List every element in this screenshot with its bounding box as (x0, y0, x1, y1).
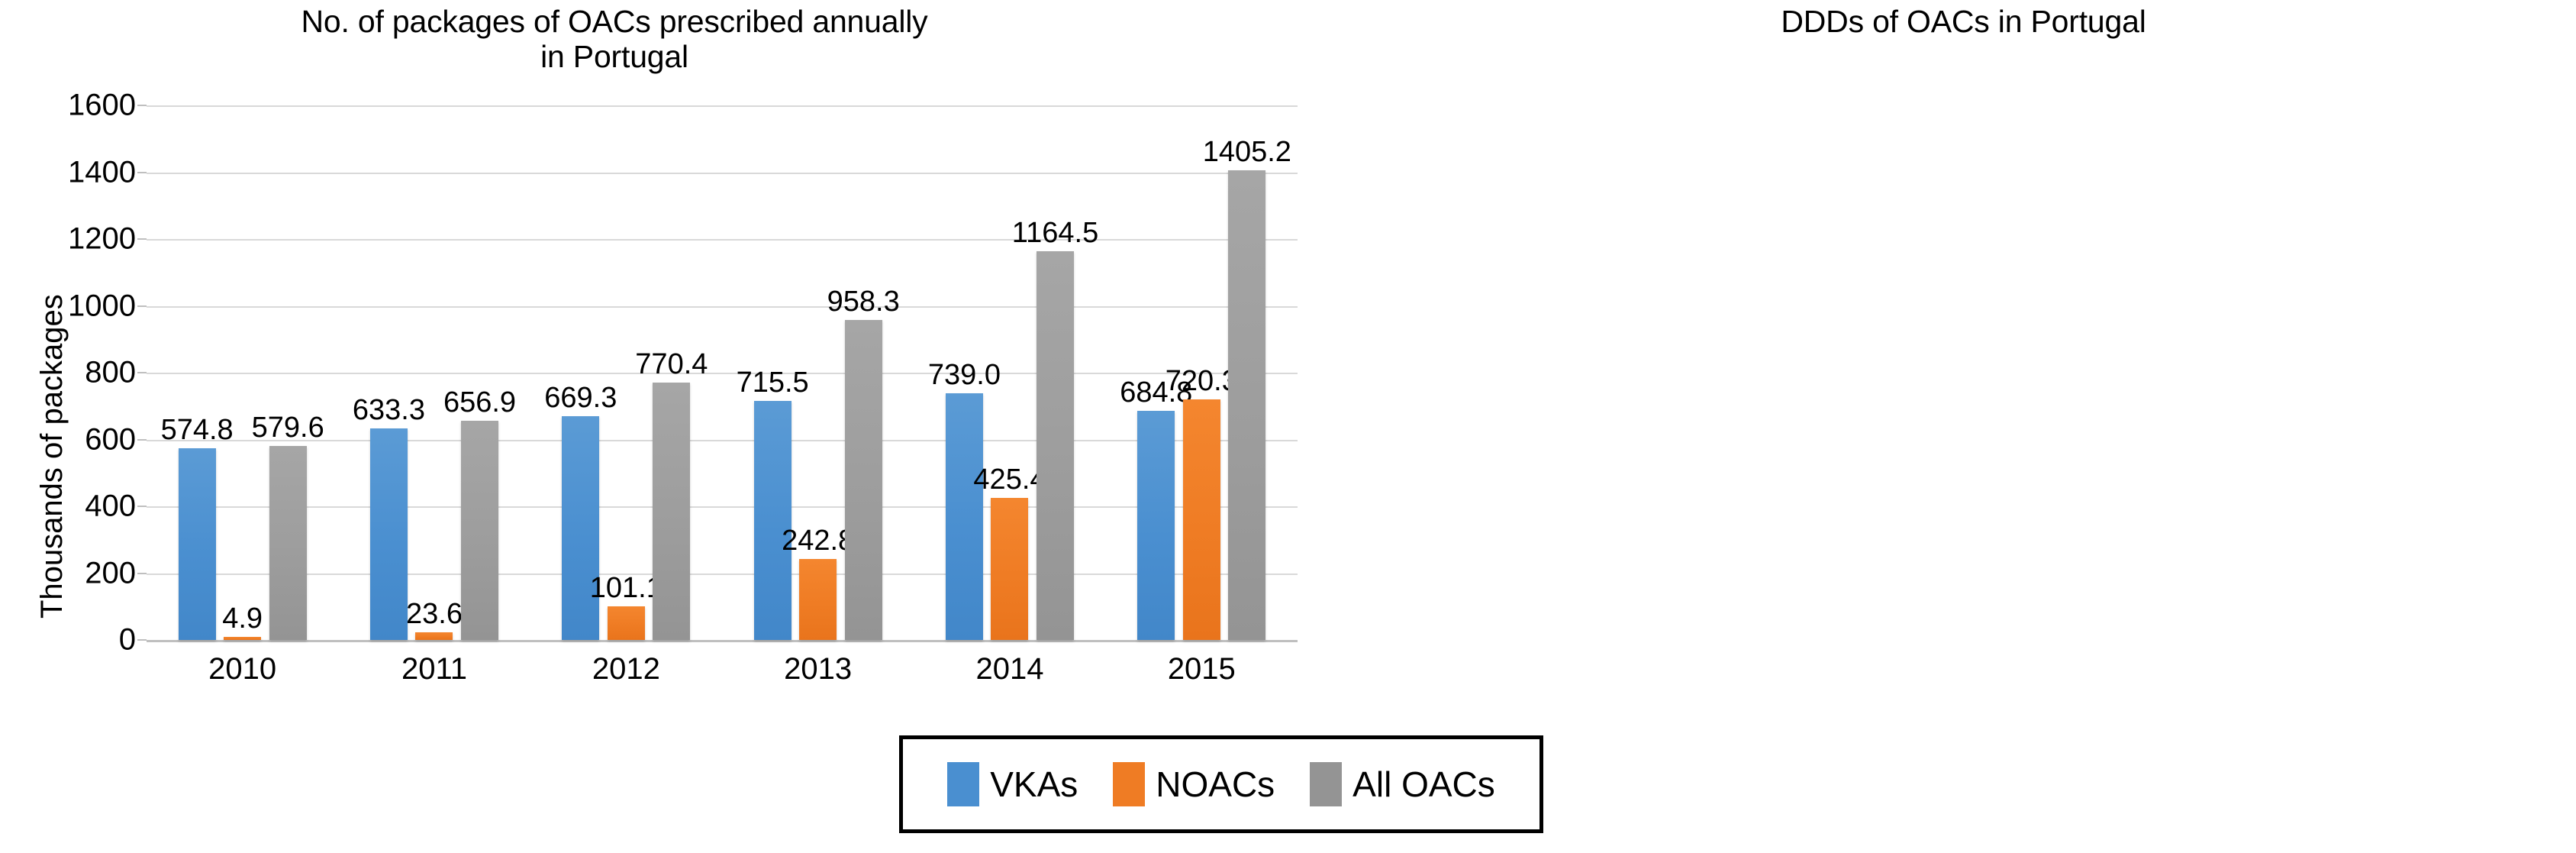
bar-all-oacs[interactable]: 958.3 (845, 320, 882, 640)
bar-all-oacs[interactable]: 1164.5 (1037, 251, 1074, 640)
y-axis-tick-mark (137, 305, 147, 307)
legend-item-all-oacs[interactable]: All OACs (1310, 762, 1495, 806)
bar-value-label: 1405.2 (1203, 137, 1291, 166)
legend-label: VKAs (990, 764, 1078, 805)
bar-slot: 720.3 (1183, 105, 1220, 640)
y-axis-tick-label: 1000 (68, 289, 136, 323)
bar-value-label: 242.8 (782, 526, 854, 555)
x-axis-tick-label: 2013 (722, 652, 914, 687)
bar-value-label: 633.3 (353, 396, 425, 425)
bar-slot: 1164.5 (1037, 105, 1074, 640)
bar-slot: 23.6 (415, 105, 453, 640)
legend-item-vkas[interactable]: VKAs (947, 762, 1078, 806)
bar-value-label: 4.9 (222, 604, 263, 633)
bar-value-label: 770.4 (635, 350, 708, 379)
bar-vkas[interactable]: 669.3 (562, 416, 599, 640)
bar-group-2013: 715.5242.8958.32013 (722, 105, 914, 640)
legend-label: NOACs (1156, 764, 1275, 805)
chart-title-line-1: No. of packages of OACs prescribed annua… (92, 5, 1137, 40)
bar-noacs[interactable]: 242.8 (799, 559, 837, 640)
bar-slot: 739.0 (946, 105, 983, 640)
legend-color-swatch (1113, 762, 1145, 806)
bar-noacs[interactable]: 720.3 (1183, 399, 1220, 640)
bar-group-2012: 669.3101.1770.42012 (530, 105, 722, 640)
y-axis-tick-mark (137, 105, 147, 106)
bar-slot: 770.4 (653, 105, 690, 640)
bar-slot: 633.3 (370, 105, 408, 640)
gridline (147, 640, 1298, 642)
bar-vkas[interactable]: 633.3 (370, 428, 408, 640)
y-axis-tick-mark (137, 573, 147, 574)
bar-all-oacs[interactable]: 579.6 (269, 446, 307, 640)
y-axis-tick-mark (137, 372, 147, 373)
bar-value-label: 579.6 (252, 413, 324, 442)
x-axis-tick-label: 2011 (338, 652, 530, 687)
bar-group-2014: 739.0425.41164.52014 (914, 105, 1105, 640)
y-axis-tick-label: 400 (85, 490, 136, 524)
y-axis-tick-label: 600 (85, 422, 136, 457)
bar-vkas[interactable]: 684.8 (1137, 411, 1175, 640)
bar-value-label: 574.8 (161, 415, 234, 444)
y-axis-tick-mark (137, 506, 147, 507)
y-axis-tick-label: 0 (119, 623, 136, 658)
legend-color-swatch (947, 762, 979, 806)
chart-title-packages: No. of packages of OACs prescribed annua… (0, 5, 1313, 75)
bar-value-label: 1164.5 (1012, 218, 1098, 247)
bar-slot: 579.6 (269, 105, 307, 640)
y-axis-tick-label: 1200 (68, 222, 136, 257)
bar-slot: 669.3 (562, 105, 599, 640)
x-axis-tick-label: 2010 (147, 652, 338, 687)
bar-value-label: 739.0 (928, 360, 1001, 389)
bar-group-2011: 633.323.6656.92011 (338, 105, 530, 640)
bar-groups: 574.84.9579.62010633.323.6656.92011669.3… (147, 105, 1298, 640)
legend-item-noacs[interactable]: NOACs (1113, 762, 1275, 806)
bar-all-oacs[interactable]: 656.9 (461, 421, 498, 640)
plot-area-packages: 02004006008001000120014001600574.84.9579… (147, 105, 1298, 640)
y-axis-tick-mark (137, 172, 147, 173)
bar-noacs[interactable]: 101.1 (608, 606, 645, 640)
bar-all-oacs[interactable]: 770.4 (653, 383, 690, 640)
chart-legend: VKAsNOACsAll OACs (899, 735, 1543, 833)
y-axis-tick-label: 1400 (68, 155, 136, 189)
y-axis-tick-label: 1600 (68, 89, 136, 123)
bar-slot: 1405.2 (1228, 105, 1265, 640)
bar-value-label: 101.1 (590, 574, 663, 603)
bar-slot: 4.9 (224, 105, 261, 640)
chart-title-line-2: in Portugal (92, 40, 1137, 75)
bar-value-label: 715.5 (737, 368, 809, 397)
bar-group-2015: 684.8720.31405.22015 (1106, 105, 1298, 640)
bar-vkas[interactable]: 574.8 (179, 448, 216, 640)
bar-vkas[interactable]: 739.0 (946, 393, 983, 640)
x-axis-tick-label: 2014 (914, 652, 1105, 687)
bar-value-label: 669.3 (544, 383, 617, 412)
bar-value-label: 720.3 (1165, 367, 1238, 396)
bar-value-label: 958.3 (827, 287, 900, 316)
x-axis-tick-label: 2012 (530, 652, 722, 687)
bar-noacs[interactable]: 425.4 (991, 498, 1028, 640)
chart-panel-packages: No. of packages of OACs prescribed annua… (0, 0, 1313, 718)
bar-value-label: 425.4 (973, 465, 1046, 494)
chart-title-line-1: DDDs of OACs in Portugal (1397, 5, 2530, 40)
y-axis-title-packages: Thousands of packages (35, 294, 69, 619)
chart-title-ddds: DDDs of OACs in Portugal (1313, 5, 2576, 40)
y-axis-tick-mark (137, 238, 147, 240)
bar-slot: 656.9 (461, 105, 498, 640)
bar-group-2010: 574.84.9579.62010 (147, 105, 338, 640)
y-axis-tick-mark (137, 639, 147, 641)
bar-slot: 574.8 (179, 105, 216, 640)
legend-color-swatch (1310, 762, 1342, 806)
y-axis-tick-mark (137, 439, 147, 441)
bar-value-label: 656.9 (443, 388, 516, 417)
bar-slot: 425.4 (991, 105, 1028, 640)
legend-label: All OACs (1352, 764, 1495, 805)
bar-slot: 242.8 (799, 105, 837, 640)
bar-slot: 715.5 (754, 105, 791, 640)
figure-root: No. of packages of OACs prescribed annua… (0, 0, 2576, 853)
chart-panel-ddds: DDDs of OACs in Portugal Thousands of DD… (1313, 0, 2576, 718)
bar-noacs[interactable]: 23.6 (415, 632, 453, 640)
y-axis-tick-label: 200 (85, 556, 136, 590)
bar-value-label: 23.6 (406, 599, 463, 628)
bar-slot: 958.3 (845, 105, 882, 640)
bar-vkas[interactable]: 715.5 (754, 401, 791, 640)
x-axis-tick-label: 2015 (1106, 652, 1298, 687)
bar-all-oacs[interactable]: 1405.2 (1228, 170, 1265, 640)
y-axis-tick-label: 800 (85, 356, 136, 390)
bar-noacs[interactable]: 4.9 (224, 637, 261, 640)
